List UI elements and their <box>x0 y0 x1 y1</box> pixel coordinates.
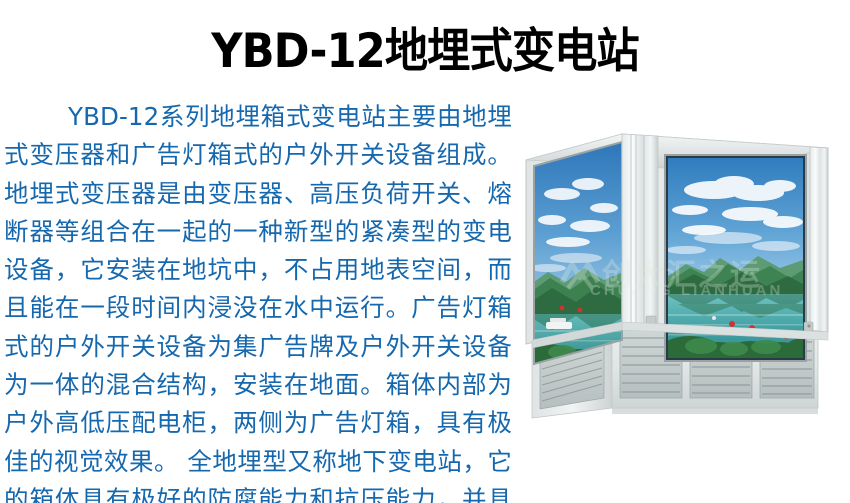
product-info-page: YBD-12地埋式变电站 YBD-12系列地埋箱式变电站主要由地埋式变压器和广告… <box>0 0 850 503</box>
cabinet-corner-post <box>622 134 658 326</box>
page-title: YBD-12地埋式变电站 <box>34 24 816 80</box>
substation-cabinet-illustration <box>518 118 850 453</box>
product-photo <box>518 118 850 453</box>
product-description-text: YBD-12系列地埋箱式变电站主要由地埋式变压器和广告灯箱式的户外开关设备组成。… <box>4 98 512 503</box>
